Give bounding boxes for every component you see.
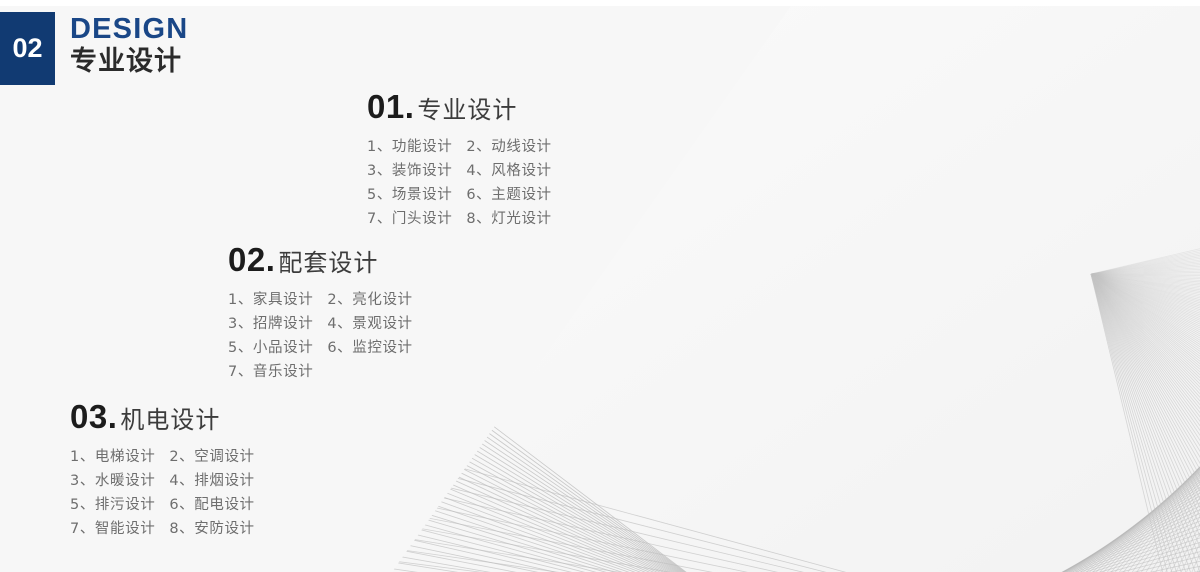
content-block-03: 03. 机电设计 1、电梯设计 2、空调设计 3、水暖设计 4、排烟设计 5、排… xyxy=(70,398,255,538)
header-title-en: DESIGN xyxy=(70,14,188,45)
list-item: 1、家具设计 xyxy=(228,292,313,309)
block-03-name: 机电设计 xyxy=(120,400,220,435)
content-block-01: 01. 专业设计 1、功能设计 2、动线设计 3、装饰设计 4、风格设计 5、场… xyxy=(367,88,552,228)
list-item: 7、门头设计 xyxy=(367,211,452,228)
list-item: 3、招牌设计 xyxy=(228,316,313,333)
list-item: 1、电梯设计 xyxy=(70,449,155,466)
list-item: 3、装饰设计 xyxy=(367,163,452,180)
list-item: 5、排污设计 xyxy=(70,497,155,514)
list-item: 8、安防设计 xyxy=(169,521,254,538)
list-item: 7、智能设计 xyxy=(70,521,155,538)
list-item: 5、场景设计 xyxy=(367,187,452,204)
block-01-title: 01. 专业设计 xyxy=(367,88,552,126)
list-item: 6、主题设计 xyxy=(466,187,551,204)
top-white-strip xyxy=(0,0,1200,6)
list-item: 1、功能设计 xyxy=(367,139,452,156)
list-item: 5、小品设计 xyxy=(228,340,313,357)
list-item: 4、排烟设计 xyxy=(169,473,254,490)
list-item: 6、监控设计 xyxy=(327,340,412,357)
header-text-group: DESIGN 专业设计 xyxy=(70,14,188,77)
header-title-cn: 专业设计 xyxy=(70,46,188,77)
list-item: 7、音乐设计 xyxy=(228,364,313,381)
list-item: 2、亮化设计 xyxy=(327,292,412,309)
list-item: 2、动线设计 xyxy=(466,139,551,156)
section-number-badge: 02 xyxy=(0,12,55,85)
block-03-items: 1、电梯设计 2、空调设计 3、水暖设计 4、排烟设计 5、排污设计 6、配电设… xyxy=(70,449,255,538)
list-item: 2、空调设计 xyxy=(169,449,254,466)
block-01-items: 1、功能设计 2、动线设计 3、装饰设计 4、风格设计 5、场景设计 6、主题设… xyxy=(367,139,552,228)
block-01-number: 01. xyxy=(367,88,414,126)
block-03-number: 03. xyxy=(70,398,117,436)
block-01-name: 专业设计 xyxy=(417,90,517,125)
list-item: 3、水暖设计 xyxy=(70,473,155,490)
block-02-title: 02. 配套设计 xyxy=(228,241,413,279)
block-02-name: 配套设计 xyxy=(278,243,378,278)
slide-canvas: 02 DESIGN 专业设计 01. 专业设计 1、功能设计 2、动线设计 3、… xyxy=(0,0,1200,572)
slide-header: 02 DESIGN 专业设计 xyxy=(0,12,188,85)
content-block-02: 02. 配套设计 1、家具设计 2、亮化设计 3、招牌设计 4、景观设计 5、小… xyxy=(228,241,413,381)
block-02-number: 02. xyxy=(228,241,275,279)
block-03-title: 03. 机电设计 xyxy=(70,398,255,436)
list-item: 8、灯光设计 xyxy=(466,211,551,228)
block-02-items: 1、家具设计 2、亮化设计 3、招牌设计 4、景观设计 5、小品设计 6、监控设… xyxy=(228,292,413,381)
list-item: 4、风格设计 xyxy=(466,163,551,180)
list-item: 6、配电设计 xyxy=(169,497,254,514)
list-item: 4、景观设计 xyxy=(327,316,412,333)
